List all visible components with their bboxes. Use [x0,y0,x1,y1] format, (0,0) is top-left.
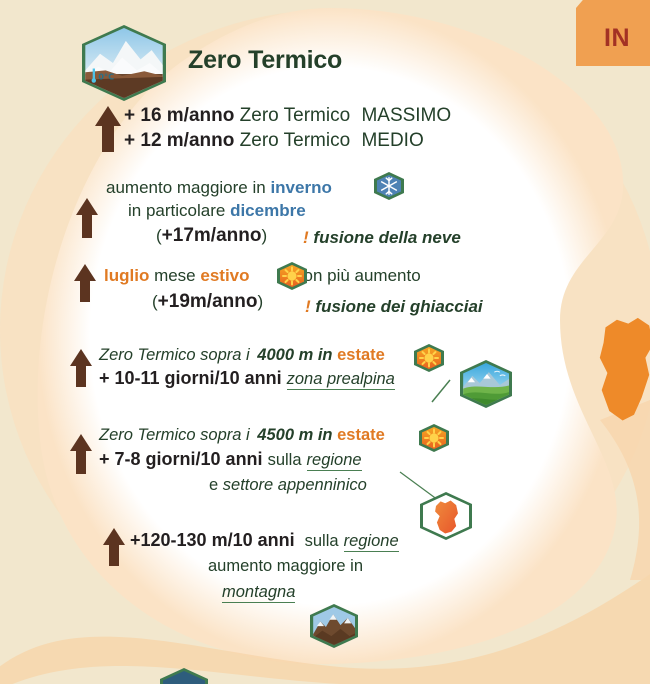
sun-hexagon-icon [277,262,307,290]
text-zt-sopra-4500: Zero Termico sopra i [99,426,250,444]
text-aumento-maggiore-inverno: aumento maggiore in [106,178,266,197]
text-sulla-1: sulla [268,451,302,469]
label-zona-prealpina: zona prealpina [287,370,395,390]
label-inverno: inverno [270,178,331,197]
exclamation-mark-2: ! [305,297,311,316]
text-zt-sopra-4000: Zero Termico sopra i [99,346,250,364]
value-10-11-giorni: + 10-11 giorni [99,368,215,388]
value-4500m: 4500 m in [257,426,332,444]
label-medio: MEDIO [361,130,423,151]
row-120-130: +120-130 m/10 anni sulla regione aumento… [130,528,530,605]
page-title: Zero Termico [188,46,342,75]
up-arrow-icon [93,104,123,154]
label-regione-2: regione [344,532,399,552]
label-zero-termico-2: Zero Termico [240,130,351,151]
content-layer: 0°C Zero Termico + 16 m/anno Zero Termic… [0,0,650,684]
mountain-hexagon-icon [310,604,358,648]
row-4500m: Zero Termico sopra i 4500 m in estate + … [99,424,529,497]
sun-hexagon-icon [414,344,444,372]
value-plus19: +19m/anno [158,291,258,312]
mountain-zero-degree-hexagon-icon: 0°C [82,25,166,101]
up-arrow-icon [72,262,98,304]
value-plus16: + 16 m/anno [124,105,234,126]
text-in-particolare: in particolare [128,201,225,220]
label-estate-2: estate [337,426,385,444]
note-text-fusione-neve: fusione della neve [313,228,460,247]
value-plus17: +17m/anno [162,225,262,246]
value-7-8-giorni: + 7-8 giorni [99,449,196,469]
text-aumento-maggiore-montagna: aumento maggiore in [208,557,363,575]
up-arrow-icon [74,196,100,240]
prealpine-landscape-hexagon-icon [460,360,512,408]
up-arrow-icon [68,432,94,476]
label-montagna: montagna [222,583,295,603]
note-fusione-neve: ! fusione della neve [303,228,461,248]
label-estivo: estivo [200,266,249,285]
label-luglio: luglio [104,266,149,285]
note-fusione-ghiacciai: ! fusione dei ghiacciai [305,297,483,317]
bottom-hexagon-icon [160,668,208,684]
sun-hexagon-icon [419,424,449,452]
text-e: e [209,476,218,494]
paren-close-17: ) [261,226,267,245]
text-sulla-2: sulla [305,532,339,550]
banner-label: IN [604,24,630,53]
text-mese: mese [154,266,196,285]
label-regione-1: regione [307,451,362,471]
label-zero-termico-1: Zero Termico [240,105,351,126]
paren-close-19: ) [257,292,263,311]
text-con-piu-aumento: con più aumento [295,266,421,285]
label-massimo: MASSIMO [361,105,451,126]
infographic-canvas: IN 0°C Zero Termico [0,0,650,684]
up-arrow-icon [101,526,127,568]
value-per-10-anni-1: /10 anni [215,368,282,388]
svg-text:0°C: 0°C [98,72,114,82]
exclamation-mark-1: ! [303,228,309,247]
label-estate-1: estate [337,346,385,364]
label-settore-appenninico: settore appenninico [223,476,367,494]
value-120-130: +120-130 m/10 anni [130,530,295,550]
snowflake-hexagon-icon [374,172,404,200]
note-text-fusione-ghiacciai: fusione dei ghiacciai [315,297,482,316]
up-arrow-icon [68,347,94,389]
value-per-10-anni-2: /10 anni [196,449,263,469]
label-dicembre: dicembre [230,201,306,220]
value-plus12: + 12 m/anno [124,130,234,151]
value-4000m: 4000 m in [257,346,332,364]
row-massimo-medio: + 16 m/anno Zero Termico MASSIMO + 12 m/… [124,104,451,154]
